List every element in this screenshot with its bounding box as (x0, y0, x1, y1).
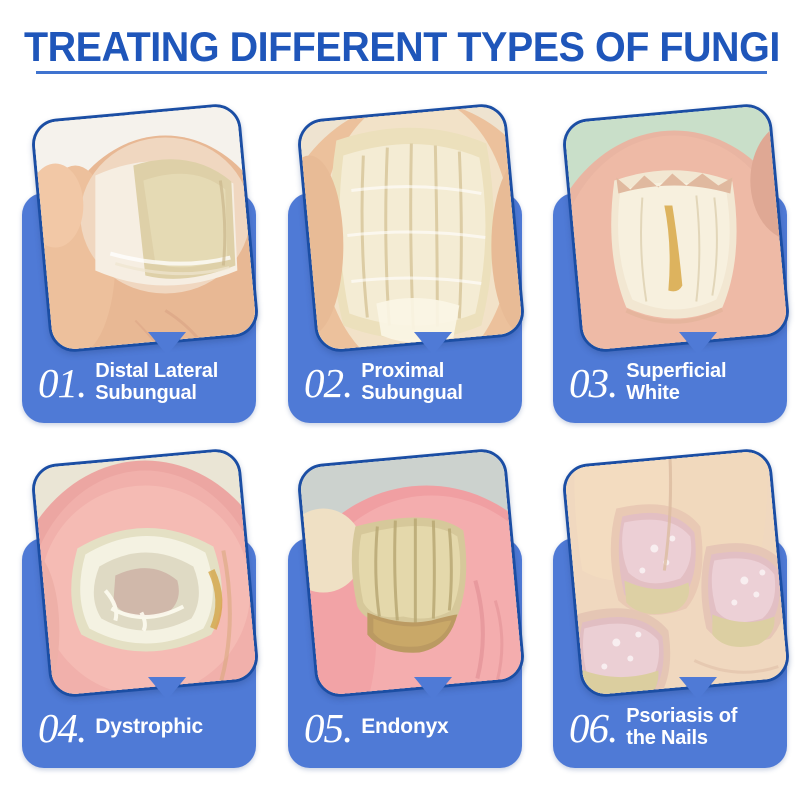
card-title-line1: Superficial (626, 360, 726, 382)
card-title: Proximal Subungual (361, 360, 522, 404)
card-number: 03. (569, 363, 617, 404)
photo-frame (296, 447, 526, 699)
psoriasis-of-the-nails-photo (561, 447, 791, 699)
fungi-card-06[interactable]: 06. Psoriasis of the Nails (553, 538, 787, 768)
card-label: 05. Endonyx (288, 686, 522, 768)
superficial-white-toenail-photo (561, 102, 791, 354)
fungi-card-05[interactable]: 05. Endonyx (288, 538, 522, 768)
dystrophic-toenail-photo (30, 447, 260, 699)
fungi-card-04[interactable]: 04. Dystrophic (22, 538, 256, 768)
card-title: Superficial White (626, 360, 787, 404)
card-title: Dystrophic (95, 716, 256, 738)
card-label: 04. Dystrophic (22, 686, 256, 768)
photo-frame (561, 102, 791, 354)
fungi-card-03[interactable]: 03. Superficial White (553, 193, 787, 423)
card-title-line2: Subungual (361, 382, 463, 404)
fungi-card-02[interactable]: 02. Proximal Subungual (288, 193, 522, 423)
photo-frame (30, 447, 260, 699)
card-title-line1: Distal Lateral (95, 360, 218, 382)
card-title-line1: Proximal (361, 360, 444, 382)
card-label: 01. Distal Lateral Subungual (22, 341, 256, 423)
photo-frame (30, 102, 260, 354)
card-label: 03. Superficial White (553, 341, 787, 423)
card-title-line2: White (626, 382, 679, 404)
card-number: 02. (304, 363, 352, 404)
fungi-card-01[interactable]: 01. Distal Lateral Subungual (22, 193, 256, 423)
card-number: 06. (569, 708, 617, 749)
card-title-line2: the Nails (626, 727, 708, 749)
card-title: Distal Lateral Subungual (95, 360, 256, 404)
card-title: Endonyx (361, 716, 522, 738)
card-number: 01. (38, 363, 86, 404)
proximal-subungual-toenail-photo (296, 102, 526, 354)
endonyx-toenail-photo (296, 447, 526, 699)
card-title-line1: Psoriasis of (626, 705, 737, 727)
distal-lateral-subungual-toenail-photo (30, 102, 260, 354)
card-number: 05. (304, 708, 352, 749)
fungi-type-card-grid: 01. Distal Lateral Subungual (0, 0, 800, 800)
card-number: 04. (38, 708, 86, 749)
photo-frame (561, 447, 791, 699)
card-label: 02. Proximal Subungual (288, 341, 522, 423)
card-label: 06. Psoriasis of the Nails (553, 686, 787, 768)
card-title-line2: Subungual (95, 382, 197, 404)
photo-frame (296, 102, 526, 354)
card-title: Psoriasis of the Nails (626, 705, 787, 749)
